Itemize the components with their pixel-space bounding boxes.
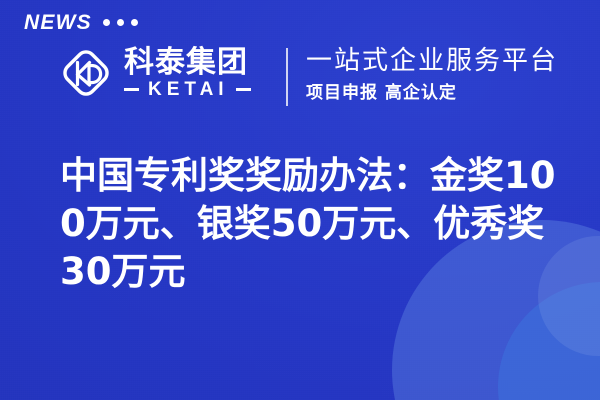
vertical-divider (286, 48, 288, 106)
decorative-circle-medium (498, 282, 600, 400)
ketai-diamond-kd-mark-icon (58, 44, 114, 102)
brand-rule-left-icon (124, 88, 139, 91)
brand-name-en-row: KETAI (124, 80, 251, 99)
brand-lockup: 科泰集团 KETAI (58, 44, 251, 102)
tagline-secondary: 项目申报 高企认定 (306, 82, 558, 104)
dot-1 (103, 19, 110, 26)
brand-name-en: KETAI (146, 80, 229, 99)
brand-name-cn: 科泰集团 (124, 47, 251, 79)
headline-text: 中国专利奖奖励办法：金奖100万元、银奖50万元、优秀奖30万元 (60, 152, 568, 296)
news-eyebrow: NEWS (24, 12, 138, 33)
ellipsis-dots-icon (103, 19, 138, 27)
tagline-primary: 一站式企业服务平台 (306, 46, 558, 77)
news-banner: NEWS 科泰集团 KETAI (0, 0, 600, 400)
dot-2 (117, 19, 124, 26)
dot-3 (131, 19, 138, 26)
tagline-block: 一站式企业服务平台 项目申报 高企认定 (306, 46, 558, 104)
news-label: NEWS (24, 12, 92, 33)
brand-rule-right-icon (236, 88, 251, 91)
brand-text: 科泰集团 KETAI (124, 47, 251, 99)
